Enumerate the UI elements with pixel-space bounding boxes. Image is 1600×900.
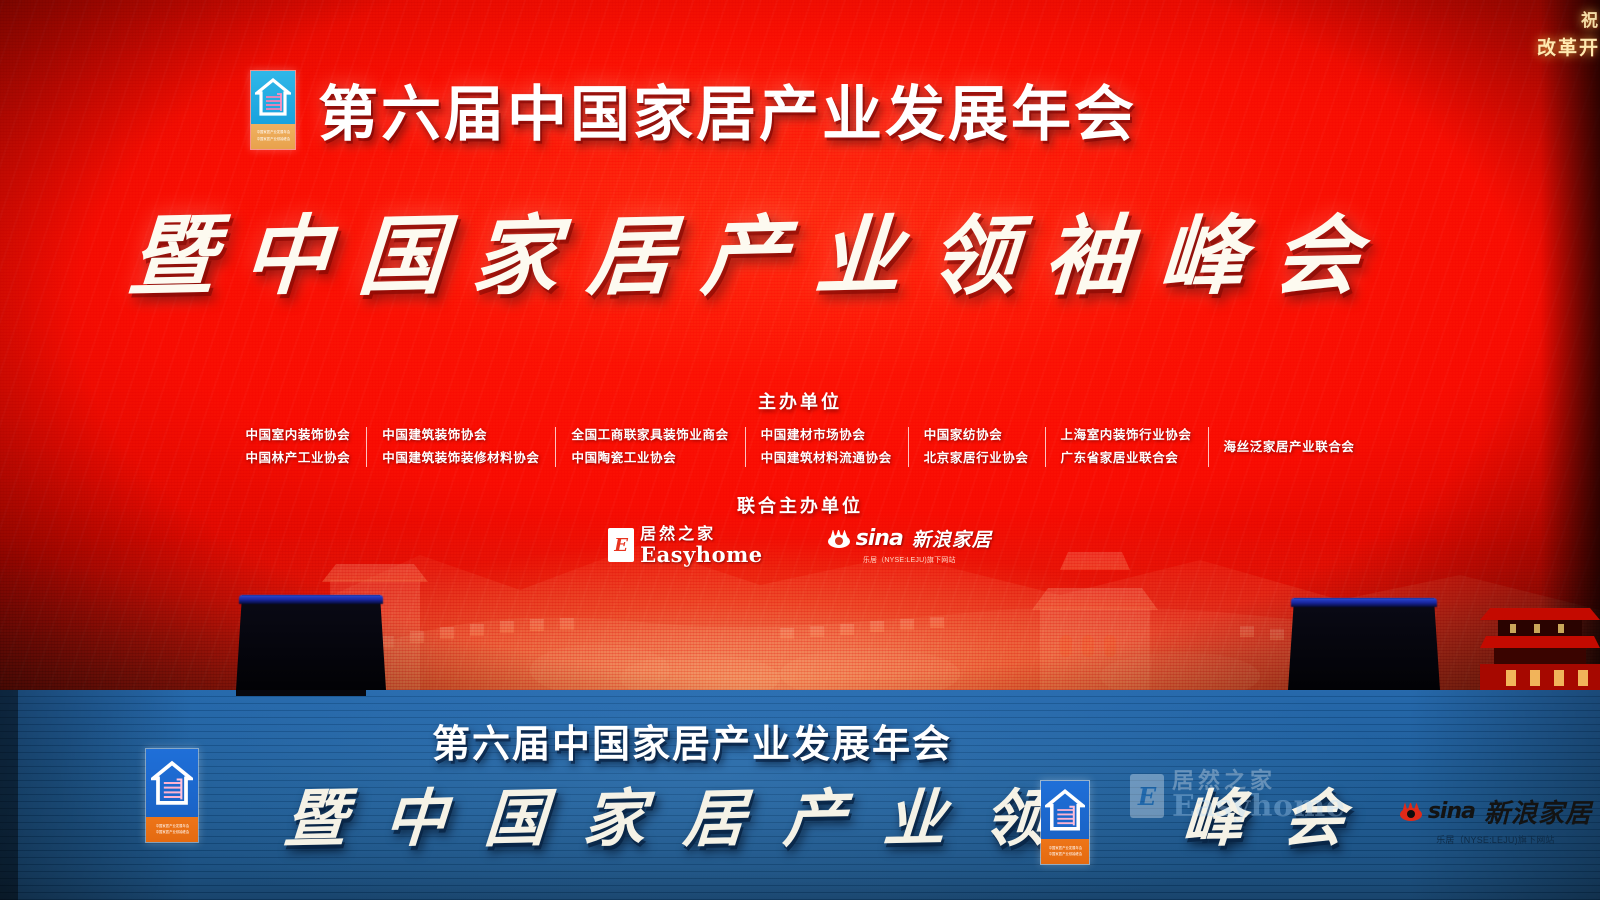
calli-char: 袖 [1041,185,1135,312]
calli-char: 领 [927,185,1021,312]
organizer-name: 全国工商联家具装饰业商会 [571,424,728,447]
calli-char: 家 [581,767,649,858]
easyhome-en-name: Easyhome [640,544,763,565]
led-backdrop: 祝 改革开 中国家居产业发展年会 中国家 [0,0,1600,690]
organizer-name: 中国建材市场协会 [761,424,892,447]
sina-eye-icon [827,530,851,548]
organizer-column: 全国工商联家具装饰业商会 中国陶瓷工业协会 [555,424,744,470]
logo-caption-line2: 中国家居产业领袖峰会 [1048,852,1082,856]
top-right-line1: 祝 [1537,8,1600,34]
house-icon [255,77,291,117]
logo-house-panel [251,71,295,124]
organizer-name: 中国建筑装饰装修材料协会 [382,447,539,470]
organizer-name: 中国林产工业协会 [245,447,350,470]
house-icon [151,759,193,807]
calli-char: 家 [469,185,563,312]
easyhome-logo: E 居然之家 Easyhome [608,526,763,565]
event-calligraphy-title: 暨 中 国 家 居 产 业 领 袖 峰 会 [130,186,1360,311]
co-organizers-logos: E 居然之家 Easyhome sina 新浪家居 [0,525,1600,565]
sina-subtitle: 乐居（NYSE:LEJU)旗下网站 [1436,833,1554,846]
calli-char: 业 [812,185,906,312]
calli-char: 中 [382,767,450,858]
calli-char: 会 [1270,185,1364,312]
stage-top-notch [236,690,366,696]
sina-eye-pupil [1407,810,1415,818]
sina-subtitle: 乐居（NYSE:LEJU)旗下网站 [863,555,956,565]
organizer-name: 中国建筑装饰协会 [382,424,539,447]
sina-home-logo: sina 新浪家居 乐居（NYSE:LEJU)旗下网站 [827,525,992,565]
easyhome-mark-icon: E [608,528,634,562]
top-right-partial-text: 祝 改革开 [1537,8,1600,64]
calli-char: 暨 [126,185,220,312]
sina-eye-pupil [835,537,843,545]
organizer-name: 海丝泛家居产业联合会 [1224,436,1355,459]
calli-char: 居 [681,767,749,858]
great-wall-glow [250,490,1350,690]
organizer-column: 中国建筑装饰协会 中国建筑装饰装修材料协会 [366,424,555,470]
calli-char: 中 [240,185,334,312]
stage-monitor-left [236,595,386,690]
stage-banner-main-title: 第六届中国家居产业发展年会 [432,713,952,768]
calli-char: 峰 [1180,767,1248,858]
logo-caption-panel: 中国家居产业发展年会 中国家居产业领袖峰会 [146,817,198,842]
stage-banner-calligraphy-title: 暨 中 国 家 居 产 业 领 袖 峰 会 [285,768,1345,858]
calli-char: 峰 [1155,185,1249,312]
logo-caption-panel: 中国家居产业发展年会 中国家居产业领袖峰会 [251,124,295,149]
easyhome-cn-name: 居然之家 [640,526,763,542]
sina-cn-name: 新浪家居 [1484,793,1592,830]
organizers-grid: 中国室内装饰协会 中国林产工业协会 中国建筑装饰协会 中国建筑装饰装修材料协会 … [0,424,1600,470]
organizer-name: 上海室内装饰行业协会 [1061,424,1192,447]
stage-house-emblem-logo: 中国家居产业发展年会 中国家居产业领袖峰会 [145,748,199,843]
co-organizers-heading: 联合主办单位 [0,492,1600,518]
easyhome-wordmark: 居然之家 Easyhome [640,526,763,565]
house-icon [1045,788,1085,832]
monitor-body [1288,598,1440,690]
organizer-column: 海丝泛家居产业联合会 [1208,424,1371,470]
calli-char: 领 [981,767,1049,858]
stage-house-emblem-logo-secondary: 中国家居产业发展年会 中国家居产业领袖峰会 [1040,780,1090,865]
logo-caption-line2: 中国家居产业领袖峰会 [155,830,189,834]
logo-caption-line1: 中国家居产业发展年会 [256,130,290,134]
logo-house-panel [146,749,198,817]
calli-char: 国 [482,767,550,858]
event-main-title: 第六届中国家居产业发展年会 [318,66,1137,153]
stage-left-shadow [0,690,18,900]
logo-caption-panel: 中国家居产业发展年会 中国家居产业领袖峰会 [1041,839,1089,864]
logo-caption-line2: 中国家居产业领袖峰会 [256,137,290,141]
organizer-column: 上海室内装饰行业协会 广东省家居业联合会 [1045,424,1208,470]
sina-wordmark-row: sina 新浪家居 [1399,793,1592,830]
sina-eye-icon [1399,803,1423,821]
monitor-top-light [239,595,383,604]
stage-sina-home-logo: sina 新浪家居 乐居（NYSE:LEJU)旗下网站 [1399,793,1592,846]
logo-house-panel [1041,781,1089,839]
calli-char: 居 [583,185,677,312]
organizer-column: 中国室内装饰协会 中国林产工业协会 [229,424,366,470]
calli-char: 国 [355,185,449,312]
sina-en-name: sina [1428,799,1475,824]
pagoda-building [1480,560,1600,690]
photo-scene: 祝 改革开 中国家居产业发展年会 中国家 [0,0,1600,900]
stage-monitor-right [1288,598,1440,690]
organizer-column: 中国家纺协会 北京家居行业协会 [908,424,1045,470]
sina-cn-name: 新浪家居 [912,525,992,552]
calli-char: 产 [698,185,792,312]
headline-row: 中国家居产业发展年会 中国家居产业领袖峰会 第六届中国家居产业发展年会 [250,66,1137,153]
house-emblem-logo: 中国家居产业发展年会 中国家居产业领袖峰会 [250,70,296,150]
sina-wordmark-row: sina 新浪家居 [827,525,992,552]
sina-en-name: sina [856,526,903,551]
monitor-top-light [1291,598,1437,607]
calli-char: 业 [881,767,949,858]
house-emblem-logo: 中国家居产业发展年会 中国家居产业领袖峰会 [1040,780,1090,865]
house-emblem-logo: 中国家居产业发展年会 中国家居产业领袖峰会 [145,748,199,843]
top-right-line2: 改革开 [1537,34,1600,63]
organizer-name: 北京家居行业协会 [924,447,1029,470]
organizer-name: 中国建筑材料流通协会 [761,447,892,470]
organizer-name: 中国室内装饰协会 [245,424,350,447]
monitor-body [236,595,386,690]
organizer-name: 中国家纺协会 [924,424,1029,447]
calli-char: 会 [1280,767,1348,858]
organizer-name: 广东省家居业联合会 [1061,447,1192,470]
organizers-heading: 主办单位 [0,388,1600,414]
logo-caption-line1: 中国家居产业发展年会 [1048,846,1082,850]
organizer-name: 中国陶瓷工业协会 [571,447,728,470]
organizer-column: 中国建材市场协会 中国建筑材料流通协会 [745,424,908,470]
calli-char: 暨 [282,767,350,858]
calli-char: 产 [781,767,849,858]
logo-caption-line1: 中国家居产业发展年会 [155,824,189,828]
